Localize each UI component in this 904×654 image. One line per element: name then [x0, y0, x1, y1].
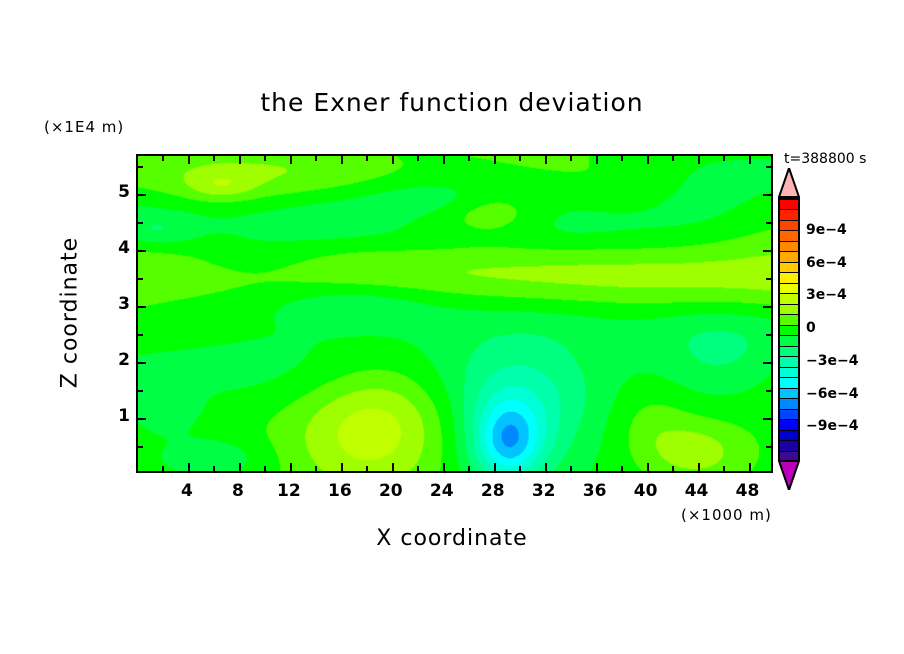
colorbar-cap-top [778, 168, 800, 198]
x-axis-tick [596, 463, 598, 471]
contour-field [138, 156, 771, 471]
colorbar: 9e−46e−43e−40−3e−4−6e−4−9e−4 [778, 198, 800, 460]
x-axis-minor-tick [264, 466, 266, 471]
y-axis-tick-label: 5 [106, 182, 130, 202]
contour-plot-panel [136, 154, 773, 473]
x-axis-tick [443, 156, 445, 164]
x-axis-minor-tick [417, 466, 419, 471]
x-axis-tick [647, 156, 649, 164]
x-axis-tick [239, 156, 241, 164]
x-axis-tick [443, 463, 445, 471]
x-axis-minor-tick [162, 156, 164, 161]
x-axis-tick-label: 44 [677, 481, 717, 501]
colorbar-cap-bottom [778, 460, 800, 490]
colorbar-segment [780, 284, 798, 294]
colorbar-segment [780, 294, 798, 304]
x-axis-tick [698, 156, 700, 164]
colorbar-segment [780, 336, 798, 346]
x-axis-unit-label: (×1000 m) [681, 506, 772, 524]
y-axis-tick [138, 306, 146, 308]
x-axis-tick [545, 463, 547, 471]
x-axis-minor-tick [672, 466, 674, 471]
x-axis-minor-tick [468, 466, 470, 471]
colorbar-segment [780, 431, 798, 441]
colorbar-segment [780, 242, 798, 252]
x-axis-tick [698, 463, 700, 471]
colorbar-body [778, 198, 800, 460]
colorbar-tick-label: −3e−4 [806, 353, 858, 369]
colorbar-segment [780, 263, 798, 273]
y-axis-minor-tick [138, 446, 143, 448]
x-axis-tick-label: 40 [626, 481, 666, 501]
x-axis-minor-tick [570, 156, 572, 161]
colorbar-tick-label: 9e−4 [806, 222, 847, 238]
x-axis-minor-tick [723, 156, 725, 161]
y-axis-minor-tick [766, 166, 771, 168]
x-axis-minor-tick [570, 466, 572, 471]
x-axis-tick [290, 463, 292, 471]
x-axis-tick-label: 36 [575, 481, 615, 501]
colorbar-tick-label: 0 [806, 320, 816, 336]
page-title: the Exner function deviation [0, 88, 904, 117]
colorbar-segment [780, 221, 798, 231]
colorbar-tick-label: 6e−4 [806, 255, 847, 271]
x-axis-minor-tick [672, 156, 674, 161]
x-axis-tick [596, 156, 598, 164]
y-axis-tick-label: 2 [106, 350, 130, 370]
y-axis-minor-tick [766, 334, 771, 336]
colorbar-segment [780, 200, 798, 210]
x-axis-minor-tick [723, 466, 725, 471]
y-axis-minor-tick [766, 390, 771, 392]
colorbar-segment [780, 273, 798, 283]
x-axis-tick [392, 156, 394, 164]
x-axis-minor-tick [519, 466, 521, 471]
colorbar-segment [780, 389, 798, 399]
colorbar-segment [780, 357, 798, 367]
x-axis-tick [239, 463, 241, 471]
x-axis-minor-tick [162, 466, 164, 471]
colorbar-segment [780, 305, 798, 315]
colorbar-segment [780, 252, 798, 262]
x-axis-tick [188, 463, 190, 471]
y-axis-minor-tick [138, 222, 143, 224]
x-axis-tick-label: 20 [371, 481, 411, 501]
colorbar-tick-label: −6e−4 [806, 386, 858, 402]
x-axis-tick [392, 463, 394, 471]
x-axis-tick [341, 156, 343, 164]
x-axis-title: X coordinate [0, 526, 904, 551]
y-axis-tick-label: 4 [106, 238, 130, 258]
x-axis-tick-label: 12 [269, 481, 309, 501]
x-axis-tick-label: 24 [422, 481, 462, 501]
x-axis-minor-tick [315, 156, 317, 161]
x-axis-minor-tick [213, 156, 215, 161]
y-axis-title: Z coordinate [58, 213, 83, 413]
y-axis-tick [763, 306, 771, 308]
y-axis-minor-tick [138, 166, 143, 168]
y-axis-tick [763, 418, 771, 420]
colorbar-segment [780, 420, 798, 430]
x-axis-tick [341, 463, 343, 471]
x-axis-tick [647, 463, 649, 471]
y-axis-tick [138, 194, 146, 196]
x-axis-tick-label: 16 [320, 481, 360, 501]
x-axis-minor-tick [621, 156, 623, 161]
x-axis-minor-tick [417, 156, 419, 161]
x-axis-tick-label: 48 [728, 481, 768, 501]
colorbar-tick-label: −9e−4 [806, 418, 858, 434]
y-axis-tick [763, 250, 771, 252]
x-axis-tick-label: 8 [218, 481, 258, 501]
x-axis-tick [749, 463, 751, 471]
y-axis-tick [138, 250, 146, 252]
colorbar-segment [780, 231, 798, 241]
y-axis-tick-label: 1 [106, 406, 130, 426]
colorbar-segment [780, 315, 798, 325]
x-axis-minor-tick [315, 466, 317, 471]
colorbar-segment [780, 441, 798, 451]
x-axis-minor-tick [519, 156, 521, 161]
x-axis-tick-label: 32 [524, 481, 564, 501]
y-axis-minor-tick [138, 334, 143, 336]
y-axis-minor-tick [766, 222, 771, 224]
x-axis-tick [494, 463, 496, 471]
x-axis-tick [494, 156, 496, 164]
x-axis-minor-tick [264, 156, 266, 161]
y-axis-tick-label: 3 [106, 294, 130, 314]
x-axis-minor-tick [213, 466, 215, 471]
y-axis-minor-tick [138, 390, 143, 392]
y-axis-tick [763, 362, 771, 364]
y-axis-unit-label: (×1E4 m) [44, 118, 124, 136]
y-axis-minor-tick [138, 278, 143, 280]
colorbar-segment [780, 410, 798, 420]
colorbar-tick-label: 3e−4 [806, 287, 847, 303]
x-axis-tick [545, 156, 547, 164]
y-axis-tick [138, 362, 146, 364]
x-axis-minor-tick [366, 466, 368, 471]
colorbar-segment [780, 347, 798, 357]
x-axis-minor-tick [366, 156, 368, 161]
x-axis-tick-label: 4 [167, 481, 207, 501]
x-axis-minor-tick [621, 466, 623, 471]
y-axis-tick [763, 194, 771, 196]
x-axis-tick [749, 156, 751, 164]
colorbar-segment [780, 378, 798, 388]
x-axis-tick [188, 156, 190, 164]
y-axis-minor-tick [766, 278, 771, 280]
x-axis-minor-tick [468, 156, 470, 161]
x-axis-tick-label: 28 [473, 481, 513, 501]
colorbar-segment [780, 368, 798, 378]
x-axis-tick [290, 156, 292, 164]
timestamp-annotation: t=388800 s [784, 151, 866, 167]
y-axis-tick [138, 418, 146, 420]
colorbar-segment [780, 326, 798, 336]
y-axis-minor-tick [766, 446, 771, 448]
colorbar-segment [780, 399, 798, 409]
colorbar-segment [780, 210, 798, 220]
